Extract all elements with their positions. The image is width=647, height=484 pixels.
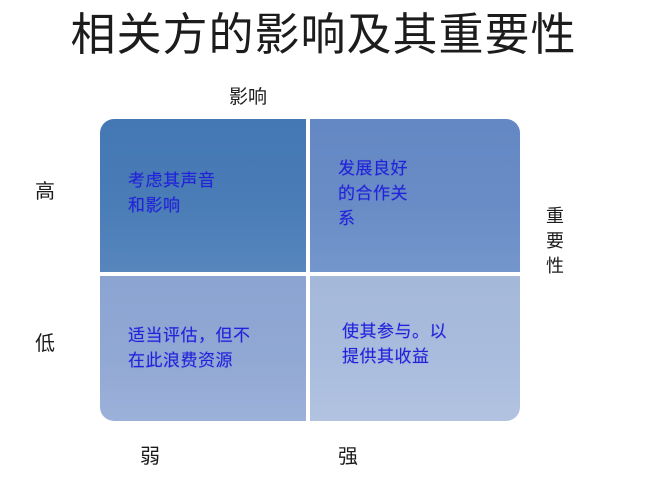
axis-label-importance-char-1: 重 bbox=[540, 204, 570, 229]
stakeholder-matrix: 考虑其声音 和影响 发展良好 的合作关 系 适当评估，但不 在此浪费资源 使其参… bbox=[100, 119, 520, 421]
quadrant-top-right[interactable]: 发展良好 的合作关 系 bbox=[310, 119, 520, 272]
axis-tick-low: 低 bbox=[10, 330, 80, 356]
axis-label-importance: 重 要 性 bbox=[540, 204, 570, 279]
page-title: 相关方的影响及其重要性 bbox=[0, 8, 647, 62]
quadrant-bottom-left-text: 适当评估，但不 在此浪费资源 bbox=[128, 324, 251, 374]
quadrant-bottom-right-text: 使其参与。以 提供其收益 bbox=[342, 320, 447, 370]
quadrant-bottom-left[interactable]: 适当评估，但不 在此浪费资源 bbox=[100, 276, 306, 421]
axis-label-influence: 影响 bbox=[208, 84, 288, 110]
axis-label-importance-char-3: 性 bbox=[540, 254, 570, 279]
axis-tick-weak: 弱 bbox=[123, 443, 177, 469]
axis-tick-strong: 强 bbox=[321, 443, 375, 469]
quadrant-bottom-right[interactable]: 使其参与。以 提供其收益 bbox=[310, 276, 520, 421]
axis-tick-high: 高 bbox=[10, 178, 80, 204]
quadrant-top-left[interactable]: 考虑其声音 和影响 bbox=[100, 119, 306, 272]
quadrant-top-left-text: 考虑其声音 和影响 bbox=[128, 169, 216, 219]
quadrant-top-right-text: 发展良好 的合作关 系 bbox=[338, 157, 408, 232]
axis-label-importance-char-2: 要 bbox=[540, 229, 570, 254]
